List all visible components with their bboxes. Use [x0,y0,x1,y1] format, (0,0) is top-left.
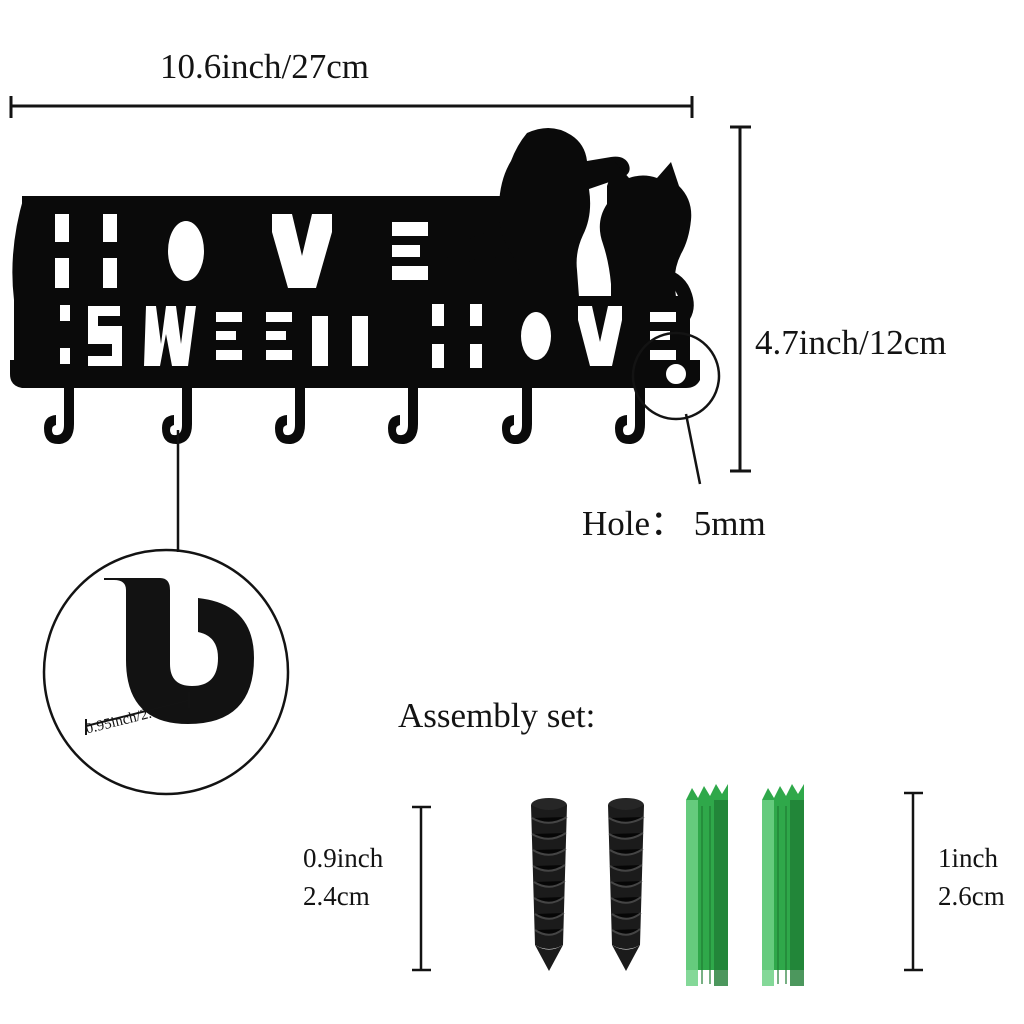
screw-dimension-line [412,806,431,971]
height-dimension-line [730,126,751,472]
diagram-vectors [0,0,1024,1024]
hook-detail-callout [44,430,288,794]
home-sweet-home-sign [10,128,700,388]
cat-silhouette [600,162,694,322]
hook-row [44,388,645,444]
wall-anchor-1 [686,784,728,986]
width-dimension-line [10,96,693,118]
screw-2 [608,798,644,971]
anchor-dimension-line [904,792,923,971]
screw-1 [531,798,567,971]
wall-anchor-2 [762,784,804,986]
diagram-canvas: 10.6inch/27cm 4.7inch/12cm Hole： 5mm 0.9… [0,0,1024,1024]
